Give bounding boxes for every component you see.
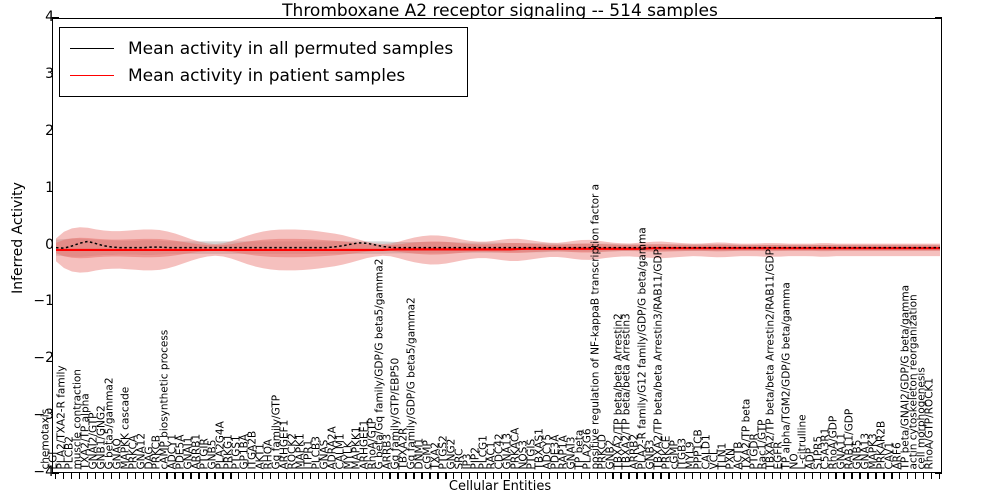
x-tick-mark (557, 473, 558, 479)
x-tick-mark (350, 473, 351, 479)
x-tick-mark (143, 473, 144, 479)
x-tick-mark (939, 473, 940, 479)
x-tick-mark (812, 473, 813, 479)
x-tick-mark (867, 473, 868, 479)
x-tick-mark (334, 473, 335, 479)
x-tick-mark (278, 473, 279, 479)
x-tick-mark (835, 473, 836, 479)
x-tick-mark (151, 473, 152, 479)
y-tick-label: −3 (14, 407, 54, 423)
x-tick-mark (182, 473, 183, 479)
y-tick-label: 4 (14, 9, 54, 25)
x-tick-mark (716, 473, 717, 479)
x-tick-mark (883, 473, 884, 479)
x-tick-mark (477, 473, 478, 479)
x-tick-mark (899, 473, 900, 479)
x-tick-mark (509, 473, 510, 479)
legend-swatch-black (70, 48, 114, 49)
x-tick-mark (788, 473, 789, 479)
legend-label-permuted: Mean activity in all permuted samples (128, 39, 453, 59)
x-tick-mark (772, 473, 773, 479)
x-tick-mark (286, 473, 287, 479)
x-tick-mark (421, 473, 422, 479)
x-tick-mark (732, 473, 733, 479)
x-tick-mark (915, 473, 916, 479)
x-tick-mark (628, 473, 629, 479)
x-tick-mark (159, 473, 160, 479)
x-tick-mark (764, 473, 765, 479)
x-tick-mark (405, 473, 406, 479)
x-tick-mark (198, 473, 199, 479)
x-tick-mark (79, 473, 80, 479)
x-tick-mark (549, 473, 550, 479)
x-tick-mark (262, 473, 263, 479)
x-tick-mark (413, 473, 414, 479)
x-tick-mark (310, 473, 311, 479)
x-tick-mark (565, 473, 566, 479)
x-tick-mark (397, 473, 398, 479)
x-tick-mark (923, 473, 924, 479)
x-tick-mark (71, 473, 72, 479)
x-tick-mark (676, 473, 677, 479)
y-tick-label: 2 (14, 123, 54, 139)
x-tick-mark (891, 473, 892, 479)
x-tick-mark (318, 473, 319, 479)
x-tick-mark (620, 473, 621, 479)
x-tick-mark (294, 473, 295, 479)
x-tick-mark (724, 473, 725, 479)
x-tick-mark (589, 473, 590, 479)
x-tick-mark (270, 473, 271, 479)
x-tick-mark (206, 473, 207, 479)
x-tick-mark (875, 473, 876, 479)
x-tick-mark (907, 473, 908, 479)
x-tick-mark (135, 473, 136, 479)
x-tick-mark (796, 473, 797, 479)
x-tick-mark (612, 473, 613, 479)
x-tick-mark (358, 473, 359, 479)
x-tick-mark (326, 473, 327, 479)
x-tick-mark (111, 473, 112, 479)
x-tick-mark (684, 473, 685, 479)
x-tick-mark (437, 473, 438, 479)
x-tick-mark (748, 473, 749, 479)
x-tick-mark (605, 473, 606, 479)
x-tick-mark (119, 473, 120, 479)
x-tick-mark (190, 473, 191, 479)
chart-legend: Mean activity in all permuted samples Me… (59, 27, 468, 97)
x-tick-mark (636, 473, 637, 479)
x-tick-mark (485, 473, 486, 479)
x-tick-mark (533, 473, 534, 479)
x-tick-mark (780, 473, 781, 479)
x-tick-mark (843, 473, 844, 479)
x-tick-mark (374, 473, 375, 479)
x-tick-mark (63, 473, 64, 479)
x-tick-mark (597, 473, 598, 479)
x-tick-mark (692, 473, 693, 479)
x-tick-mark (581, 473, 582, 479)
x-tick-mark (174, 473, 175, 479)
x-tick-mark (230, 473, 231, 479)
x-tick-mark (820, 473, 821, 479)
x-tick-mark (700, 473, 701, 479)
x-tick-mark (238, 473, 239, 479)
x-tick-mark (103, 473, 104, 479)
x-tick-mark (501, 473, 502, 479)
x-tick-mark (246, 473, 247, 479)
x-tick-mark (859, 473, 860, 479)
x-tick-mark (55, 473, 56, 479)
x-tick-mark (931, 473, 932, 479)
y-tick-label: 0 (14, 237, 54, 253)
x-tick-mark (87, 473, 88, 479)
y-tick-label: −4 (14, 464, 54, 480)
x-tick-mark (222, 473, 223, 479)
x-tick-mark (668, 473, 669, 479)
x-tick-mark (366, 473, 367, 479)
x-tick-mark (756, 473, 757, 479)
x-tick-mark (429, 473, 430, 479)
legend-swatch-red (70, 75, 114, 76)
x-tick-mark (445, 473, 446, 479)
x-tick-mark (828, 473, 829, 479)
x-tick-mark (166, 473, 167, 479)
x-tick-mark (525, 473, 526, 479)
x-axis-label: Cellular Entities (0, 479, 1000, 494)
x-tick-mark (453, 473, 454, 479)
x-tick-mark (660, 473, 661, 479)
legend-label-patient: Mean activity in patient samples (128, 66, 405, 86)
x-tick-mark (302, 473, 303, 479)
x-tick-mark (382, 473, 383, 479)
x-tick-mark (254, 473, 255, 479)
y-tick-label: 3 (14, 66, 54, 82)
x-tick-mark (644, 473, 645, 479)
x-tick-mark (461, 473, 462, 479)
x-tick-mark (541, 473, 542, 479)
x-tick-mark (740, 473, 741, 479)
x-tick-mark (95, 473, 96, 479)
x-tick-mark (851, 473, 852, 479)
y-tick-label: −1 (14, 293, 54, 309)
x-tick-mark (342, 473, 343, 479)
x-tick-mark (214, 473, 215, 479)
y-tick-label: 1 (14, 180, 54, 196)
x-tick-mark (652, 473, 653, 479)
legend-item-permuted: Mean activity in all permuted samples (70, 35, 453, 62)
x-tick-mark (127, 473, 128, 479)
x-tick-mark (573, 473, 574, 479)
y-tick-label: −2 (14, 350, 54, 366)
x-tick-mark (389, 473, 390, 479)
x-tick-mark (493, 473, 494, 479)
x-tick-mark (804, 473, 805, 479)
chart-canvas: Thromboxane A2 receptor signaling -- 514… (0, 0, 1000, 500)
x-tick-mark (469, 473, 470, 479)
x-tick-mark (708, 473, 709, 479)
legend-item-patient: Mean activity in patient samples (70, 62, 453, 89)
x-tick-mark (517, 473, 518, 479)
